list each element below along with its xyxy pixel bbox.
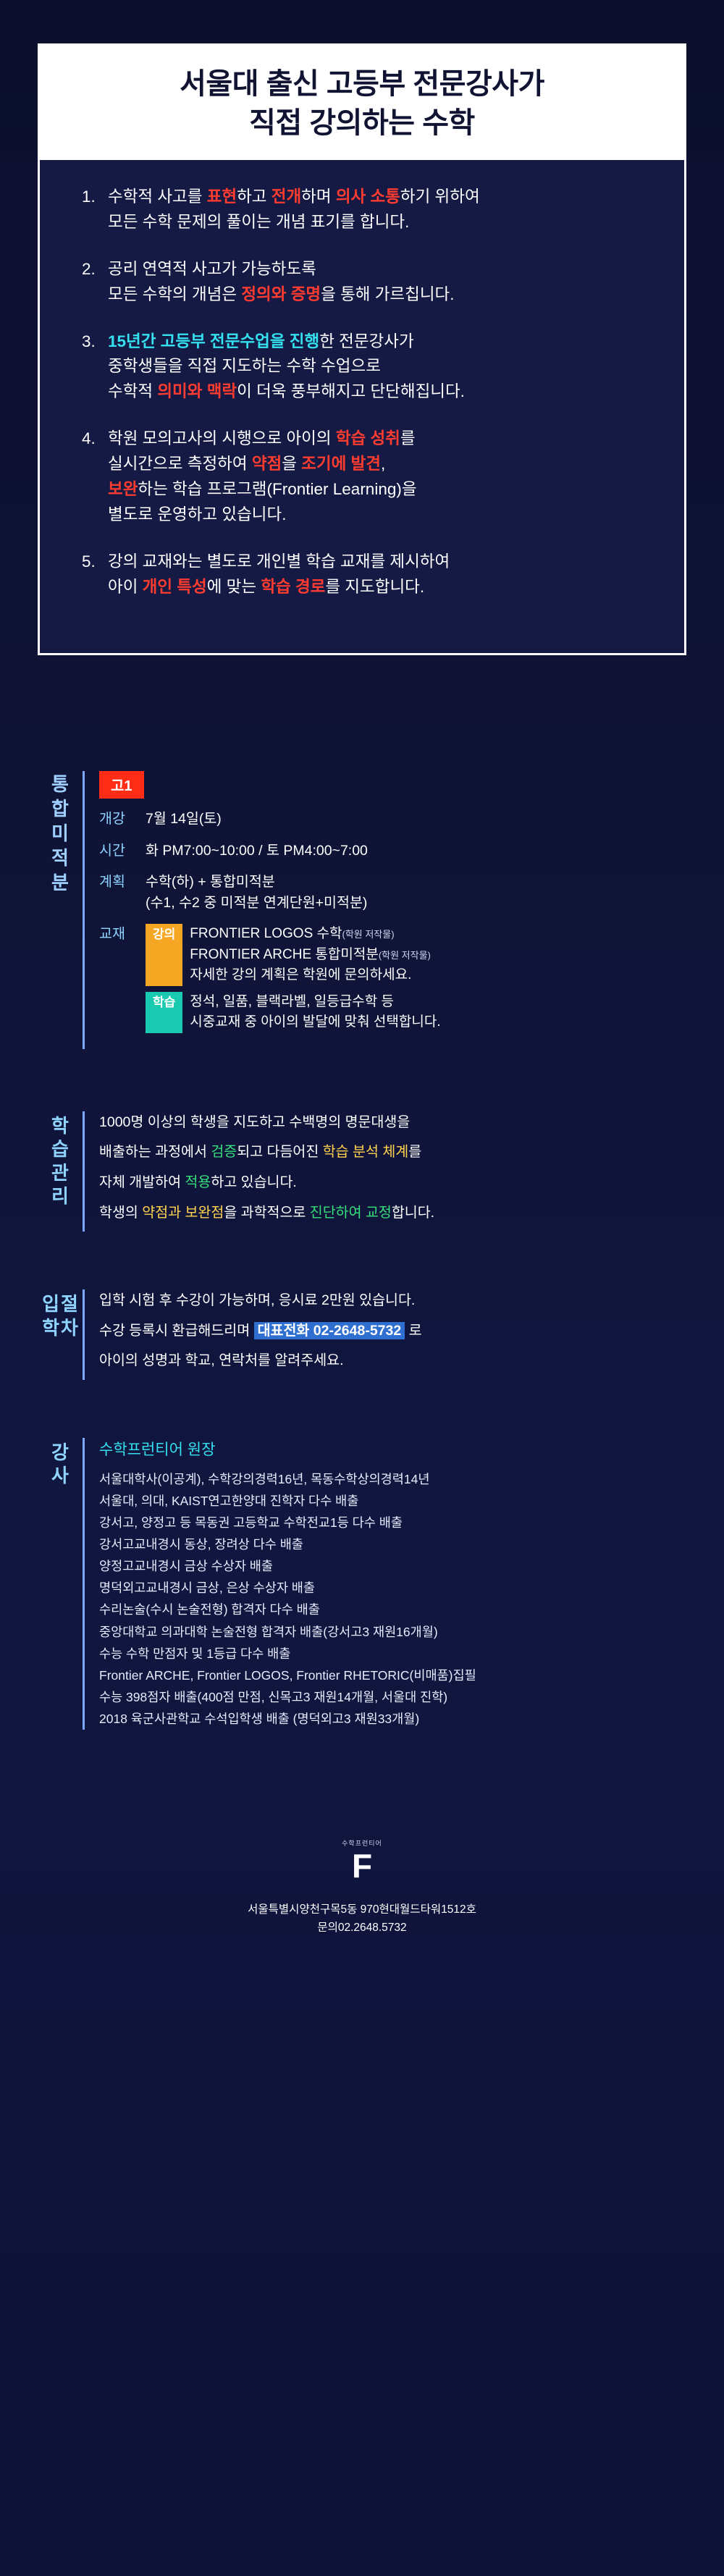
text-run: 하며 bbox=[301, 188, 336, 206]
list-item: 서울대학사(이공계), 수학강의경력16년, 목동수학상의경력14년 bbox=[99, 1468, 686, 1490]
section-body-admission: 입학 시험 후 수강이 가능하며, 응시료 2만원 있습니다.수강 등록시 환급… bbox=[83, 1289, 686, 1380]
section-body-integral: 고1 개강7월 14일(토)시간화 PM7:00~10:00 / 토 PM4:0… bbox=[83, 771, 686, 1049]
text-run: 모든 수학의 개념은 bbox=[108, 285, 241, 303]
vertical-label-char: 습 bbox=[38, 1137, 83, 1161]
section-integral-calculus: 통합미적분 고1 개강7월 14일(토)시간화 PM7:00~10:00 / 토… bbox=[38, 771, 686, 1049]
list-item: 명덕외고교내경시 금상, 은상 수상자 배출 bbox=[99, 1577, 686, 1599]
material-line-text: 정석, 일품, 블랙라벨, 일등급수학 등 bbox=[190, 994, 394, 1009]
vertical-label-char: 학 bbox=[42, 1316, 59, 1340]
hero-box: 서울대 출신 고등부 전문강사가 직접 강의하는 수학 1.수학적 사고를 표현… bbox=[38, 43, 686, 655]
list-item: 수리논술(수시 논술전형) 합격자 다수 배출 bbox=[99, 1599, 686, 1620]
material-line-text: FRONTIER ARCHE 통합미적분 bbox=[190, 947, 379, 962]
material-entry: 강의FRONTIER LOGOS 수학(학원 저작물)FRONTIER ARCH… bbox=[146, 924, 441, 986]
text-run: 로 bbox=[405, 1323, 421, 1339]
grade-tag: 고1 bbox=[99, 771, 144, 799]
list-item-line: 아이 개인 특성에 맞는 학습 경로를 지도합니다. bbox=[108, 575, 652, 600]
info-row: 계획수학(하) + 통합미적분 (수1, 수2 중 미적분 연계단원+미적분) bbox=[99, 872, 686, 914]
text-run: 모든 수학 문제의 풀이는 개념 표기를 합니다. bbox=[108, 213, 409, 231]
list-item-line: 공리 연역적 사고가 가능하도록 bbox=[108, 257, 652, 282]
management-paragraphs: 1000명 이상의 학생을 지도하고 수백명의 명문대생을배출하는 과정에서 검… bbox=[99, 1111, 686, 1224]
vertical-label-char: 리 bbox=[38, 1184, 83, 1208]
material-line-text: FRONTIER LOGOS 수학 bbox=[190, 926, 342, 941]
material-text: 정석, 일품, 블랙라벨, 일등급수학 등시중교재 중 아이의 발달에 맞춰 선… bbox=[190, 992, 440, 1033]
text-run: 를 bbox=[400, 429, 416, 447]
text-run: 을 과학적으로 bbox=[224, 1205, 309, 1221]
text-run: 개인 특성 bbox=[143, 578, 207, 596]
list-item-number: 1. bbox=[82, 185, 96, 210]
list-item-line: 별도로 운영하고 있습니다. bbox=[108, 502, 652, 528]
list-item-number: 5. bbox=[82, 550, 96, 575]
text-run: 의사 소통 bbox=[336, 188, 400, 206]
text-run: 공리 연역적 사고가 가능하도록 bbox=[108, 260, 316, 278]
text-run: 실시간으로 측정하여 bbox=[108, 455, 252, 473]
section-label-management: 학습관리 bbox=[38, 1111, 83, 1232]
text-run: 중학생들을 직접 지도하는 수학 수업으로 bbox=[108, 357, 381, 375]
logo-f-icon: F bbox=[0, 1849, 724, 1882]
info-row: 시간화 PM7:00~10:00 / 토 PM4:00~7:00 bbox=[99, 841, 686, 862]
section-study-management: 학습관리 1000명 이상의 학생을 지도하고 수백명의 명문대생을배출하는 과… bbox=[38, 1111, 686, 1232]
poster-page: 서울대 출신 고등부 전문강사가 직접 강의하는 수학 1.수학적 사고를 표현… bbox=[0, 0, 724, 2576]
materials-key: 교재 bbox=[99, 924, 146, 1039]
info-row: 개강7월 14일(토) bbox=[99, 809, 686, 830]
list-item-line: 수학적 의미와 맥락이 더욱 풍부해지고 단단해집니다. bbox=[108, 379, 652, 405]
vertical-label-char: 절 bbox=[61, 1292, 78, 1316]
list-item: 2.공리 연역적 사고가 가능하도록모든 수학의 개념은 정의와 증명을 통해 … bbox=[82, 257, 652, 308]
vertical-label-char: 차 bbox=[61, 1316, 78, 1340]
section-admission: 입학절차 입학 시험 후 수강이 가능하며, 응시료 2만원 있습니다.수강 등… bbox=[38, 1289, 686, 1380]
section-body-teacher: 수학프런티어 원장 서울대학사(이공계), 수학강의경력16년, 목동수학상의경… bbox=[83, 1438, 686, 1730]
material-line: 시중교재 중 아이의 발달에 맞춰 선택합니다. bbox=[190, 1012, 440, 1033]
list-item-number: 2. bbox=[82, 257, 96, 282]
text-run: 학습 경로 bbox=[261, 578, 325, 596]
text-run: 수강 등록시 환급해드리며 bbox=[99, 1323, 254, 1339]
text-run: 학생의 bbox=[99, 1205, 142, 1221]
info-row-key: 계획 bbox=[99, 872, 146, 914]
list-item-number: 3. bbox=[82, 329, 96, 355]
text-run: 수학적 bbox=[108, 382, 157, 400]
material-line: FRONTIER LOGOS 수학(학원 저작물) bbox=[190, 924, 431, 945]
materials-value: 강의FRONTIER LOGOS 수학(학원 저작물)FRONTIER ARCH… bbox=[146, 924, 441, 1039]
info-row-value: 화 PM7:00~10:00 / 토 PM4:00~7:00 bbox=[146, 841, 368, 862]
text-run: 검증 bbox=[211, 1144, 237, 1160]
list-item-line: 15년간 고등부 전문수업을 진행한 전문강사가 bbox=[108, 329, 652, 355]
text-run: 하기 위하여 bbox=[400, 188, 480, 206]
list-item-line: 실시간으로 측정하여 약점을 조기에 발견, bbox=[108, 452, 652, 477]
text-run: 1000명 이상의 학생을 지도하고 수백명의 명문대생을 bbox=[99, 1114, 410, 1130]
text-run: 합니다. bbox=[392, 1205, 434, 1221]
list-item-line: 학원 모의고사의 시행으로 아이의 학습 성취를 bbox=[108, 426, 652, 452]
text-run: 한 전문강사가 bbox=[319, 332, 413, 350]
text-run: 학습 성취 bbox=[336, 429, 400, 447]
section-body-management: 1000명 이상의 학생을 지도하고 수백명의 명문대생을배출하는 과정에서 검… bbox=[83, 1111, 686, 1232]
material-entry: 학습정석, 일품, 블랙라벨, 일등급수학 등시중교재 중 아이의 발달에 맞춰… bbox=[146, 992, 441, 1033]
list-item-line: 수학적 사고를 표현하고 전개하며 의사 소통하기 위하여 bbox=[108, 185, 652, 210]
paragraph: 자체 개발하여 적용하고 있습니다. bbox=[99, 1171, 686, 1195]
vertical-label-char: 사 bbox=[38, 1464, 83, 1488]
text-run: 수학적 사고를 bbox=[108, 188, 207, 206]
text-run: 표현 bbox=[207, 188, 237, 206]
text-run: 아이의 성명과 학교, 연락처를 알려주세요. bbox=[99, 1352, 344, 1368]
material-line: FRONTIER ARCHE 통합미적분(학원 저작물) bbox=[190, 945, 431, 966]
text-run: 약점과 보완점 bbox=[142, 1205, 224, 1221]
list-item: 수능 수학 만점자 및 1등급 다수 배출 bbox=[99, 1643, 686, 1664]
text-run: 에 맞는 bbox=[207, 578, 261, 596]
text-run: 배출하는 과정에서 bbox=[99, 1144, 211, 1160]
info-row-key: 개강 bbox=[99, 809, 146, 830]
text-run: 하고 bbox=[237, 188, 271, 206]
page-title: 서울대 출신 고등부 전문강사가 직접 강의하는 수학 bbox=[40, 46, 684, 160]
material-badge: 강의 bbox=[146, 924, 182, 986]
list-item: 5.강의 교재와는 별도로 개인별 학습 교재를 제시하여아이 개인 특성에 맞… bbox=[82, 550, 652, 600]
text-run: 15년간 고등부 전문수업을 진행 bbox=[108, 332, 319, 350]
text-run: 아이 bbox=[108, 578, 143, 596]
section-label-admission: 입학절차 bbox=[38, 1289, 83, 1380]
text-run: , bbox=[381, 455, 385, 473]
text-run: 정의와 증명 bbox=[241, 285, 321, 303]
paragraph: 입학 시험 후 수강이 가능하며, 응시료 2만원 있습니다. bbox=[99, 1289, 686, 1313]
text-run: 약점 bbox=[252, 455, 282, 473]
footer: 수학프런티어 F 서울특별시양천구목5동 970현대월드타워1512호 문의02… bbox=[0, 1838, 724, 1966]
paragraph: 학생의 약점과 보완점을 과학적으로 진단하여 교정합니다. bbox=[99, 1202, 686, 1225]
text-run: 이 더욱 풍부해지고 단단해집니다. bbox=[237, 382, 465, 400]
list-item: Frontier ARCHE, Frontier LOGOS, Frontier… bbox=[99, 1664, 686, 1686]
text-run: 하는 학습 프로그램(Frontier Learning)을 bbox=[138, 480, 416, 498]
text-run: 하고 있습니다. bbox=[211, 1174, 296, 1190]
material-text: FRONTIER LOGOS 수학(학원 저작물)FRONTIER ARCHE … bbox=[190, 924, 431, 986]
text-run: 학원 모의고사의 시행으로 아이의 bbox=[108, 429, 336, 447]
list-item: 강서고교내경시 동상, 장려상 다수 배출 bbox=[99, 1533, 686, 1555]
text-run: 을 bbox=[282, 455, 301, 473]
material-badge: 학습 bbox=[146, 992, 182, 1033]
vertical-label-column: 절차 bbox=[61, 1292, 78, 1380]
info-row-key: 시간 bbox=[99, 841, 146, 862]
material-line: 정석, 일품, 블랙라벨, 일등급수학 등 bbox=[190, 992, 440, 1013]
list-item-line: 보완하는 학습 프로그램(Frontier Learning)을 bbox=[108, 477, 652, 502]
text-run: 입학 시험 후 수강이 가능하며, 응시료 2만원 있습니다. bbox=[99, 1292, 415, 1308]
text-run: 적용 bbox=[185, 1174, 211, 1190]
text-run: 자체 개발하여 bbox=[99, 1174, 185, 1190]
list-item: 3.15년간 고등부 전문수업을 진행한 전문강사가중학생들을 직접 지도하는 … bbox=[82, 329, 652, 405]
vertical-label-char: 미 bbox=[38, 822, 83, 846]
vertical-label-char: 합 bbox=[38, 797, 83, 822]
list-item: 중앙대학교 의과대학 논술전형 합격자 배출(강서고3 재원16개월) bbox=[99, 1621, 686, 1643]
text-run: 강의 교재와는 별도로 개인별 학습 교재를 제시하여 bbox=[108, 552, 450, 571]
text-run: 별도로 운영하고 있습니다. bbox=[108, 505, 286, 523]
text-run: 를 bbox=[408, 1144, 421, 1160]
footer-address: 서울특별시양천구목5동 970현대월드타워1512호 문의02.2648.573… bbox=[0, 1901, 724, 1937]
list-item-line: 중학생들을 직접 지도하는 수학 수업으로 bbox=[108, 354, 652, 379]
list-item-line: 강의 교재와는 별도로 개인별 학습 교재를 제시하여 bbox=[108, 550, 652, 575]
text-run: 보완 bbox=[108, 480, 138, 498]
text-run: 진단하여 교정 bbox=[310, 1205, 392, 1221]
text-run: 대표전화 02-2648-5732 bbox=[254, 1322, 405, 1339]
text-run: 의미와 맥락 bbox=[157, 382, 237, 400]
section-label-integral: 통합미적분 bbox=[38, 771, 83, 1049]
vertical-label-char: 통 bbox=[38, 773, 83, 797]
vertical-label-char: 강 bbox=[38, 1441, 83, 1465]
teacher-credential-list: 서울대학사(이공계), 수학강의경력16년, 목동수학상의경력14년서울대, 의… bbox=[99, 1468, 686, 1730]
list-item: 서울대, 의대, KAIST연고한양대 진학자 다수 배출 bbox=[99, 1490, 686, 1512]
info-row-value: 7월 14일(토) bbox=[146, 809, 222, 830]
list-item-line: 모든 수학 문제의 풀이는 개념 표기를 합니다. bbox=[108, 210, 652, 235]
teacher-title: 수학프런티어 원장 bbox=[99, 1438, 686, 1460]
vertical-label-char: 입 bbox=[42, 1292, 59, 1316]
integral-materials: 교재 강의FRONTIER LOGOS 수학(학원 저작물)FRONTIER A… bbox=[99, 924, 686, 1039]
admission-paragraphs: 입학 시험 후 수강이 가능하며, 응시료 2만원 있습니다.수강 등록시 환급… bbox=[99, 1289, 686, 1373]
list-item: 강서고, 양정고 등 목동권 고등학교 수학전교1등 다수 배출 bbox=[99, 1512, 686, 1533]
list-item: 1.수학적 사고를 표현하고 전개하며 의사 소통하기 위하여모든 수학 문제의… bbox=[82, 185, 652, 235]
integral-info-rows: 개강7월 14일(토)시간화 PM7:00~10:00 / 토 PM4:00~7… bbox=[99, 809, 686, 914]
paragraph: 수강 등록시 환급해드리며 대표전화 02-2648-5732 로 bbox=[99, 1320, 686, 1343]
vertical-label-char: 학 bbox=[38, 1114, 83, 1138]
vertical-label-char: 관 bbox=[38, 1161, 83, 1185]
section-teacher: 강사 수학프런티어 원장 서울대학사(이공계), 수학강의경력16년, 목동수학… bbox=[38, 1438, 686, 1730]
section-label-teacher: 강사 bbox=[38, 1438, 83, 1730]
list-item-number: 4. bbox=[82, 426, 96, 452]
text-run: 학습 분석 체계 bbox=[323, 1144, 408, 1160]
info-row-value: 수학(하) + 통합미적분 (수1, 수2 중 미적분 연계단원+미적분) bbox=[146, 872, 367, 914]
vertical-label-char: 분 bbox=[38, 871, 83, 896]
list-item: 4.학원 모의고사의 시행으로 아이의 학습 성취를실시간으로 측정하여 약점을… bbox=[82, 426, 652, 528]
material-line-note: (학원 저작물) bbox=[379, 950, 431, 961]
text-run: 되고 다듬어진 bbox=[237, 1144, 322, 1160]
material-line-text: 시중교재 중 아이의 발달에 맞춰 선택합니다. bbox=[190, 1014, 440, 1030]
vertical-label-char: 적 bbox=[38, 846, 83, 871]
material-line: 자세한 강의 계획은 학원에 문의하세요. bbox=[190, 965, 431, 986]
list-item: 2018 육군사관학교 수석입학생 배출 (명덕외고3 재원33개월) bbox=[99, 1708, 686, 1730]
list-item: 양정고교내경시 금상 수상자 배출 bbox=[99, 1555, 686, 1577]
material-line-text: 자세한 강의 계획은 학원에 문의하세요. bbox=[190, 967, 411, 982]
material-line-note: (학원 저작물) bbox=[342, 929, 394, 940]
list-item-line: 모든 수학의 개념은 정의와 증명을 통해 가르칩니다. bbox=[108, 282, 652, 308]
paragraph: 1000명 이상의 학생을 지도하고 수백명의 명문대생을 bbox=[99, 1111, 686, 1135]
text-run: 를 지도합니다. bbox=[325, 578, 424, 596]
text-run: 전개 bbox=[271, 188, 301, 206]
list-item: 수능 398점자 배출(400점 만점, 신목고3 재원14개월, 서울대 진학… bbox=[99, 1686, 686, 1708]
paragraph: 아이의 성명과 학교, 연락처를 알려주세요. bbox=[99, 1350, 686, 1373]
text-run: 을 통해 가르칩니다. bbox=[321, 285, 454, 303]
paragraph: 배출하는 과정에서 검증되고 다듬어진 학습 분석 체계를 bbox=[99, 1141, 686, 1164]
hero-feature-list: 1.수학적 사고를 표현하고 전개하며 의사 소통하기 위하여모든 수학 문제의… bbox=[40, 185, 684, 599]
text-run: 조기에 발견 bbox=[301, 455, 381, 473]
vertical-label-column: 입학 bbox=[42, 1292, 59, 1380]
